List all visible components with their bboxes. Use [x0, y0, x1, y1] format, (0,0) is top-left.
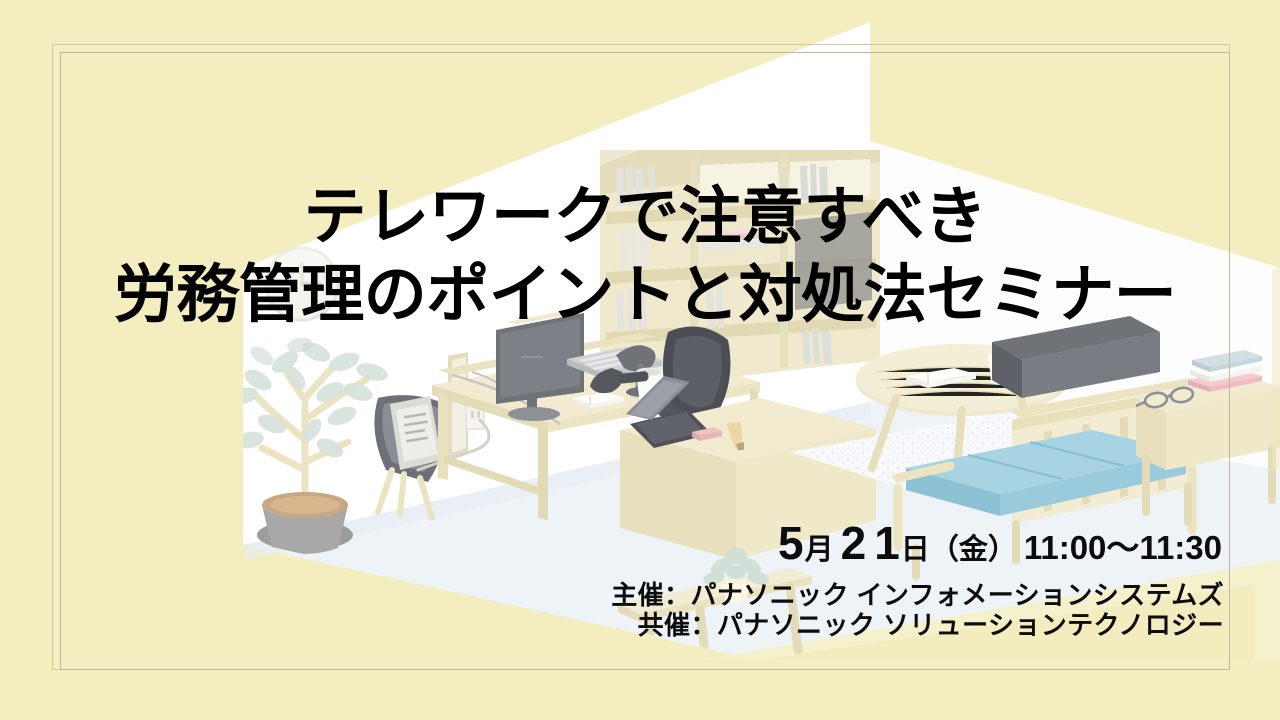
cohost-organizer: 共催：パナソニック ソリューションテクノロジー: [611, 610, 1224, 640]
date-weekday: （金）: [930, 536, 1017, 565]
seminar-slide: テレワークで注意すべき 労務管理のポイントと対処法セミナー 5 月 2 1 日 …: [0, 0, 1280, 720]
book-stack: [700, 228, 768, 251]
date-day-unit: 日: [901, 536, 930, 565]
date-day-tens: 2: [841, 520, 868, 566]
date-day-ones: 1: [874, 520, 901, 566]
seminar-time: 11:00〜11:30: [1024, 531, 1222, 564]
seminar-datetime: 5 月 2 1 日 （金） 11:00〜11:30: [778, 520, 1222, 566]
organizer-block: 主催：パナソニック インフォメーションシステムズ 共催：パナソニック ソリューシ…: [611, 580, 1224, 640]
host-organizer: 主催：パナソニック インフォメーションシステムズ: [611, 580, 1224, 610]
date-month-number: 5: [778, 520, 805, 566]
date-month-unit: 月: [805, 536, 834, 565]
